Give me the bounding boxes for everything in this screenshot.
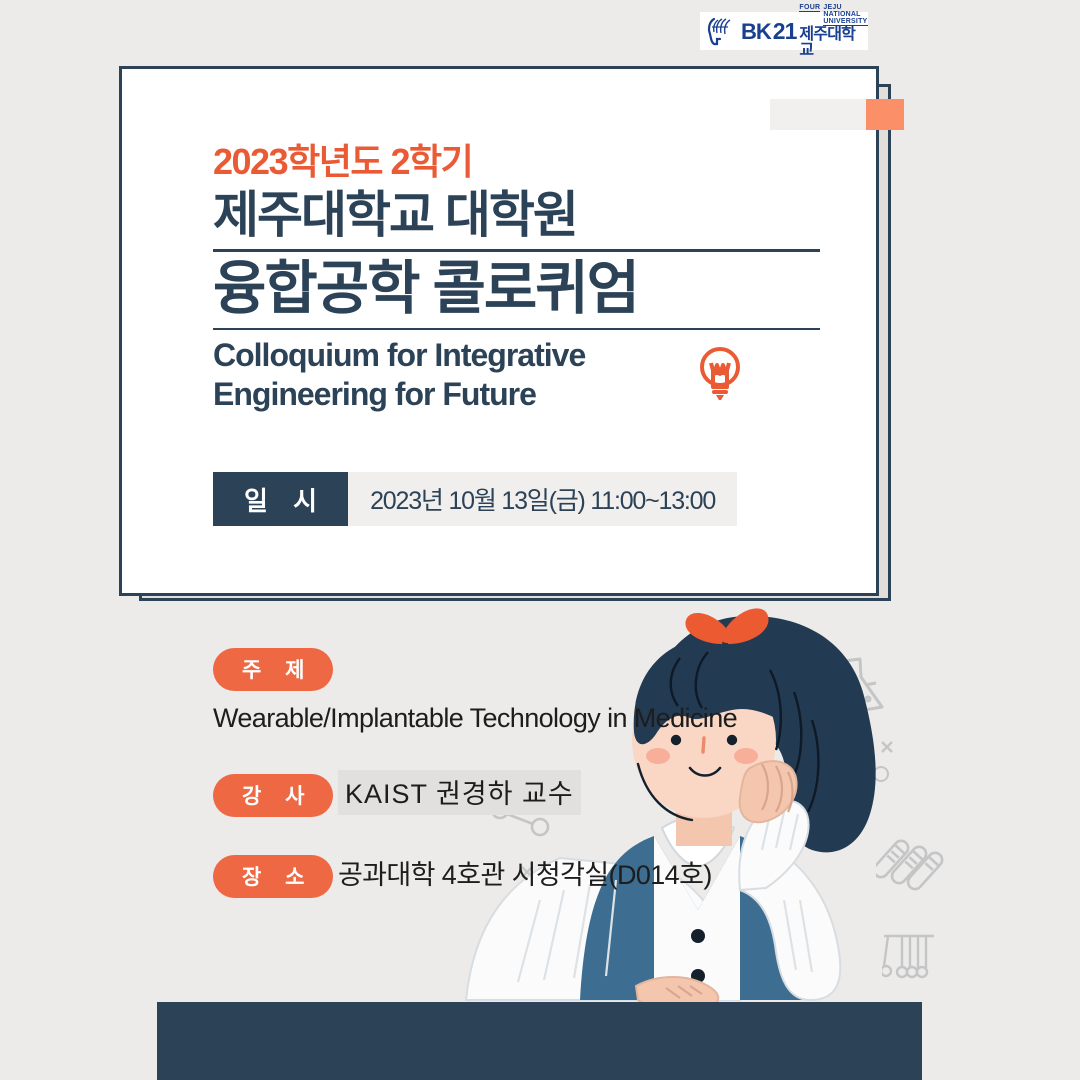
page-title-en: Colloquium for IntegrativeEngineering fo… (213, 336, 585, 414)
logo-number: 21 (773, 20, 797, 43)
logo-four-text: FOUR (799, 4, 820, 12)
logo-english-line: FOUR JEJU NATIONAL UNIVERSITY (799, 4, 868, 26)
venue-label-badge: 장 소 (213, 855, 333, 898)
logo-university-block: FOUR JEJU NATIONAL UNIVERSITY 제주대학교 (799, 4, 868, 59)
date-bar: 일 시 2023년 10월 13일(금) 11:00~13:00 (213, 472, 737, 526)
divider-upper (213, 249, 820, 252)
logo-bk-text: BK (741, 21, 771, 43)
semester-eyebrow: 2023학년도 2학기 (213, 142, 823, 182)
logo-university-kr: 제주대학교 (799, 27, 868, 59)
speaker-label-badge: 강 사 (213, 774, 333, 817)
info-block-topic: 주 제 Wearable/Implantable Technology in M… (213, 648, 773, 734)
logo-wordmark: BK 21 (741, 20, 796, 43)
topic-value: Wearable/Implantable Technology in Medic… (213, 703, 737, 734)
venue-value: 공과대학 4호관 시청각실(D014호) (338, 853, 712, 892)
divider-middle (213, 328, 820, 330)
brain-head-icon (706, 15, 740, 47)
bk21-logo: BK 21 FOUR JEJU NATIONAL UNIVERSITY 제주대학… (700, 12, 868, 50)
lightbulb-icon (695, 343, 745, 410)
corner-accent-square (866, 99, 904, 130)
speaker-value: KAIST 권경하 교수 (338, 770, 581, 815)
info-block-venue: 장 소 공과대학 4호관 시청각실(D014호) (213, 841, 773, 898)
vest-button (691, 929, 705, 943)
date-value: 2023년 10월 13일(금) 11:00~13:00 (348, 472, 737, 526)
page-title-kr-line2: 융합공학 콜로퀴엄 (213, 256, 823, 323)
page-title-kr-line1: 제주대학교 대학원 (213, 188, 823, 243)
headline-block: 2023학년도 2학기 제주대학교 대학원 융합공학 콜로퀴엄 Colloqui… (213, 142, 823, 414)
logo-university-en: JEJU NATIONAL UNIVERSITY (823, 4, 868, 26)
date-label: 일 시 (213, 472, 348, 526)
info-section: 주 제 Wearable/Implantable Technology in M… (213, 648, 773, 898)
poster-canvas: BK 21 FOUR JEJU NATIONAL UNIVERSITY 제주대학… (0, 0, 1080, 1080)
info-block-speaker: 강 사 KAIST 권경하 교수 (213, 758, 773, 817)
topic-label-badge: 주 제 (213, 648, 333, 691)
subtitle-row: Colloquium for IntegrativeEngineering fo… (213, 336, 823, 414)
